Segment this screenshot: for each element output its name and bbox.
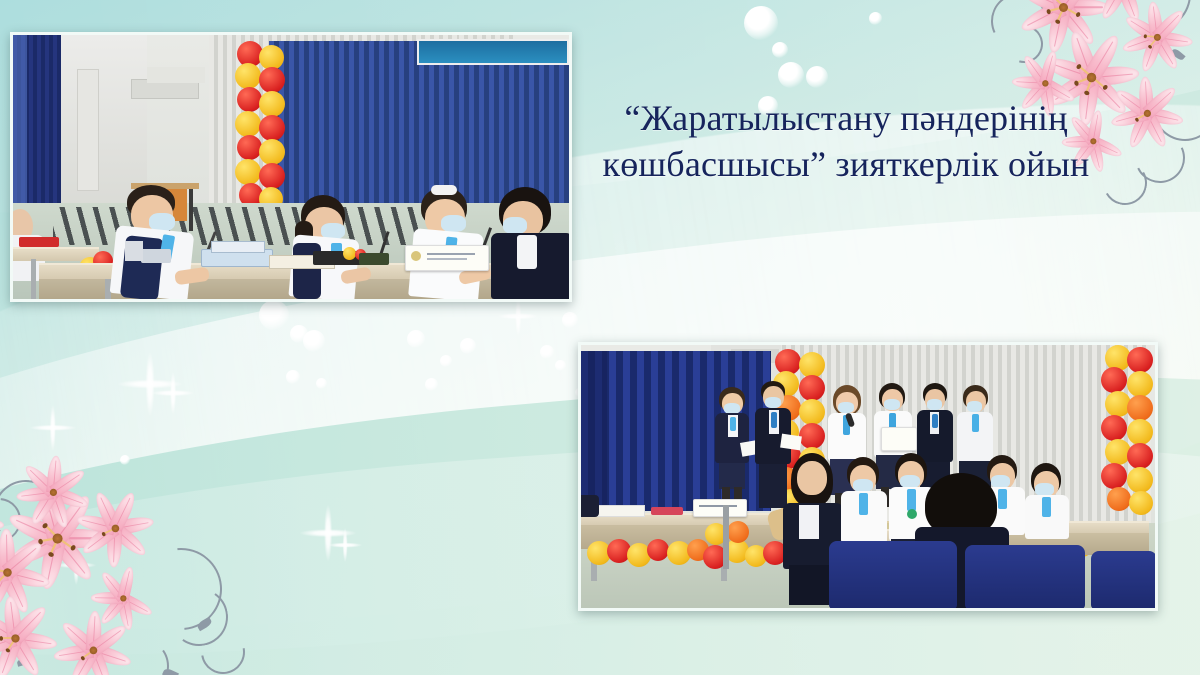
bubble-decor: [440, 355, 452, 367]
bubble-decor: [407, 330, 425, 348]
bubble-decor: [806, 66, 828, 88]
page-title: “Жаратылыстану пәндерінің көшбасшысы” зи…: [596, 95, 1096, 187]
leaf-icon: [1170, 47, 1185, 61]
bubble-decor: [290, 325, 308, 343]
vine-swirl-icon: [1102, 0, 1200, 46]
vine-swirl-icon: [165, 583, 232, 650]
sparkle-decor: [300, 505, 356, 561]
leaf-icon: [162, 667, 179, 675]
bubble-decor: [869, 12, 882, 25]
leaf-icon: [196, 617, 213, 631]
bubble-decor: [303, 330, 325, 352]
sparkle-decor: [498, 296, 538, 336]
vine-swirl-icon: [998, 18, 1050, 70]
photo2-chair: [1091, 551, 1155, 608]
photo2-nameplate: [693, 499, 747, 517]
vine-swirl-icon: [1128, 126, 1192, 190]
sparkle-decor: [30, 405, 76, 451]
photo2-seated-student: [1023, 463, 1073, 541]
sparkle-decor: [328, 528, 362, 562]
bubble-decor: [316, 378, 327, 389]
vine-swirl-icon: [109, 634, 174, 675]
bubble-decor: [460, 338, 476, 354]
photo2-held-sign: [881, 427, 917, 451]
vine-swirl-icon: [0, 475, 64, 551]
photo2-chair: [965, 545, 1085, 608]
photo1-banner: [417, 39, 569, 65]
photo1-student: [293, 195, 373, 299]
bubble-decor: [259, 300, 289, 330]
bubble-decor: [120, 455, 130, 465]
photo2-chair: [829, 541, 957, 608]
photo2-presenter: [713, 387, 753, 511]
flower-cluster-bottom-left: [0, 470, 255, 675]
bubble-decor: [778, 62, 804, 88]
vine-swirl-icon: [0, 489, 30, 551]
bubble-decor: [744, 6, 778, 40]
presentation-slide: “Жаратылыстану пәндерінің көшбасшысы” зи…: [0, 0, 1200, 675]
vine-swirl-icon: [192, 621, 253, 675]
bubble-decor: [562, 312, 578, 328]
bubble-decor: [772, 42, 788, 58]
photo-team-presenting: [578, 342, 1158, 611]
bubble-decor: [555, 360, 566, 371]
vine-swirl-icon: [983, 0, 1055, 57]
leaf-icon: [16, 656, 31, 666]
bubble-decor: [425, 378, 438, 391]
photo1-student: [481, 187, 569, 299]
vine-swirl-icon: [1140, 64, 1200, 153]
bubble-decor: [540, 345, 554, 359]
vine-swirl-icon: [1098, 156, 1152, 210]
sparkle-decor: [152, 372, 194, 414]
photo-students-writing: [10, 32, 572, 302]
bubble-decor: [286, 370, 300, 384]
vine-swirl-icon: [123, 531, 239, 647]
sparkle-decor: [118, 352, 182, 416]
sparkle-decor: [56, 545, 96, 585]
